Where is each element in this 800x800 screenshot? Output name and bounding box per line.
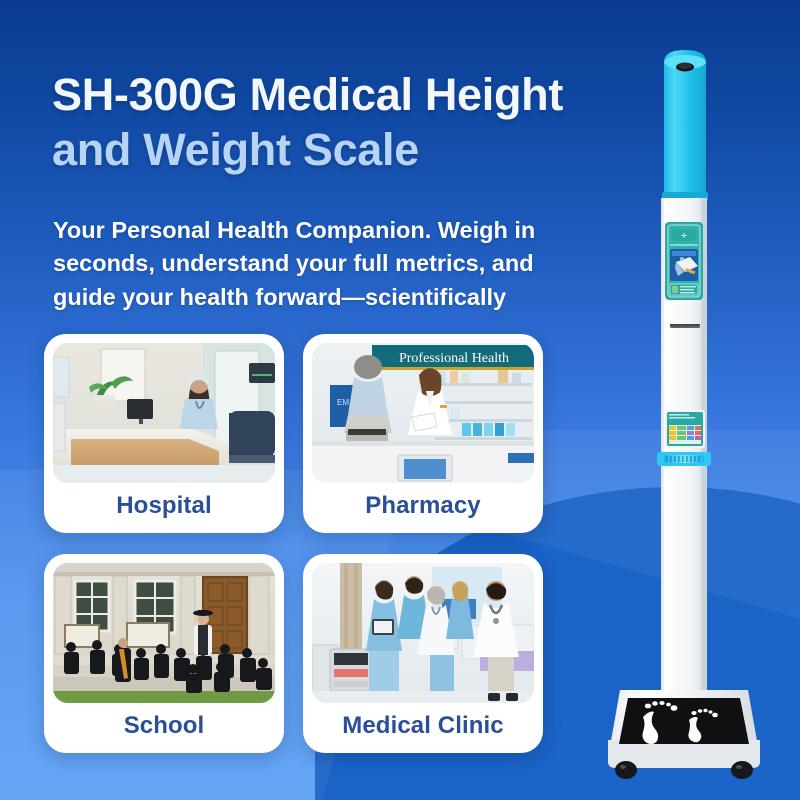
caster-wheel bbox=[731, 761, 753, 779]
product-image-height-weight-scale: ✛ bbox=[598, 40, 798, 780]
page-title-line-1: SH-300G Medical Height bbox=[52, 68, 652, 123]
footpad bbox=[619, 698, 749, 744]
page-title: SH-300G Medical Height and Weight Scale bbox=[52, 68, 652, 178]
use-case-label: Medical Clinic bbox=[342, 703, 503, 753]
page-title-line-2: and Weight Scale bbox=[52, 123, 652, 178]
medical-clinic-photo bbox=[312, 563, 534, 703]
use-case-card-hospital[interactable]: Hospital bbox=[44, 334, 284, 533]
use-case-label: School bbox=[124, 703, 205, 753]
svg-text:EM: EM bbox=[337, 398, 349, 407]
bmi-chart-panel bbox=[665, 410, 705, 448]
use-case-label: Hospital bbox=[116, 483, 211, 533]
use-case-card-pharmacy[interactable]: Professional Health EM bbox=[303, 334, 543, 533]
hospital-photo bbox=[53, 343, 275, 483]
use-case-card-medical-clinic[interactable]: Medical Clinic bbox=[303, 554, 543, 753]
use-case-card-school[interactable]: School bbox=[44, 554, 284, 753]
use-case-card-grid: Hospital bbox=[44, 334, 544, 753]
school-photo bbox=[53, 563, 275, 703]
use-case-label: Pharmacy bbox=[365, 483, 481, 533]
pharmacy-sign-text: Professional Health bbox=[399, 351, 509, 366]
weighing-platform bbox=[608, 690, 760, 779]
ultrasonic-sensor-cap bbox=[662, 50, 708, 201]
pharmacy-photo: Professional Health EM bbox=[312, 343, 534, 483]
graphics-panel: ✛ bbox=[665, 222, 703, 300]
product-poster: SH-300G Medical Height and Weight Scale … bbox=[0, 0, 800, 800]
svg-text:✛: ✛ bbox=[681, 232, 687, 240]
led-light-band bbox=[657, 452, 711, 466]
page-subtitle: Your Personal Health Companion. Weigh in… bbox=[53, 214, 573, 314]
caster-wheel bbox=[615, 761, 637, 779]
